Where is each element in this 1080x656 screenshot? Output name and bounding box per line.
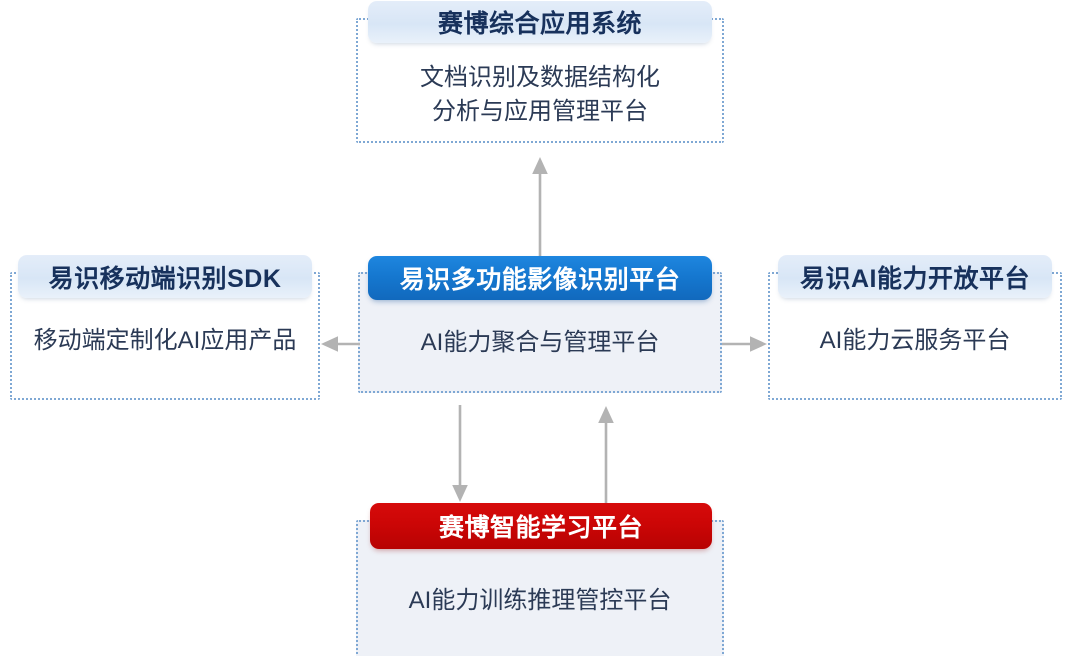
connector-center-to-right-arrow-right-icon [722, 332, 768, 356]
node-header-center-label: 易识多功能影像识别平台 [400, 260, 681, 296]
node-body-top-line1: 文档识别及数据结构化 [420, 61, 660, 95]
connector-center-to-bottom-arrow-down-icon [448, 405, 472, 503]
node-body-center-line1: AI能力聚合与管理平台 [421, 326, 660, 360]
node-body-center: AI能力聚合与管理平台 [358, 320, 722, 366]
node-header-top[interactable]: 赛博综合应用系统 [368, 1, 712, 43]
node-header-right-label: 易识AI能力开放平台 [800, 259, 1030, 295]
node-body-right: AI能力云服务平台 [768, 318, 1062, 364]
node-header-bottom[interactable]: 赛博智能学习平台 [370, 503, 712, 549]
node-body-left: 移动端定制化AI应用产品 [8, 318, 322, 364]
node-body-bottom: AI能力训练推理管控平台 [356, 578, 724, 624]
node-body-bottom-line1: AI能力训练推理管控平台 [409, 584, 672, 618]
node-header-left[interactable]: 易识移动端识别SDK [18, 255, 312, 298]
node-header-center[interactable]: 易识多功能影像识别平台 [368, 256, 712, 300]
node-header-right[interactable]: 易识AI能力开放平台 [778, 255, 1052, 298]
node-header-bottom-label: 赛博智能学习平台 [439, 508, 643, 544]
connector-bottom-to-center-arrow-up-icon [594, 405, 618, 503]
node-body-top: 文档识别及数据结构化 分析与应用管理平台 [356, 52, 724, 138]
diagram-canvas: 赛博综合应用系统 文档识别及数据结构化 分析与应用管理平台 易识移动端识别SDK… [0, 0, 1080, 656]
node-body-left-line1: 移动端定制化AI应用产品 [34, 324, 297, 358]
node-header-left-label: 易识移动端识别SDK [49, 259, 282, 295]
node-body-right-line1: AI能力云服务平台 [820, 324, 1011, 358]
node-body-top-line2: 分析与应用管理平台 [432, 95, 648, 129]
node-header-top-label: 赛博综合应用系统 [438, 4, 642, 40]
connector-center-to-top-arrow-up-icon [528, 156, 552, 256]
connector-center-to-left-arrow-left-icon [320, 332, 360, 356]
